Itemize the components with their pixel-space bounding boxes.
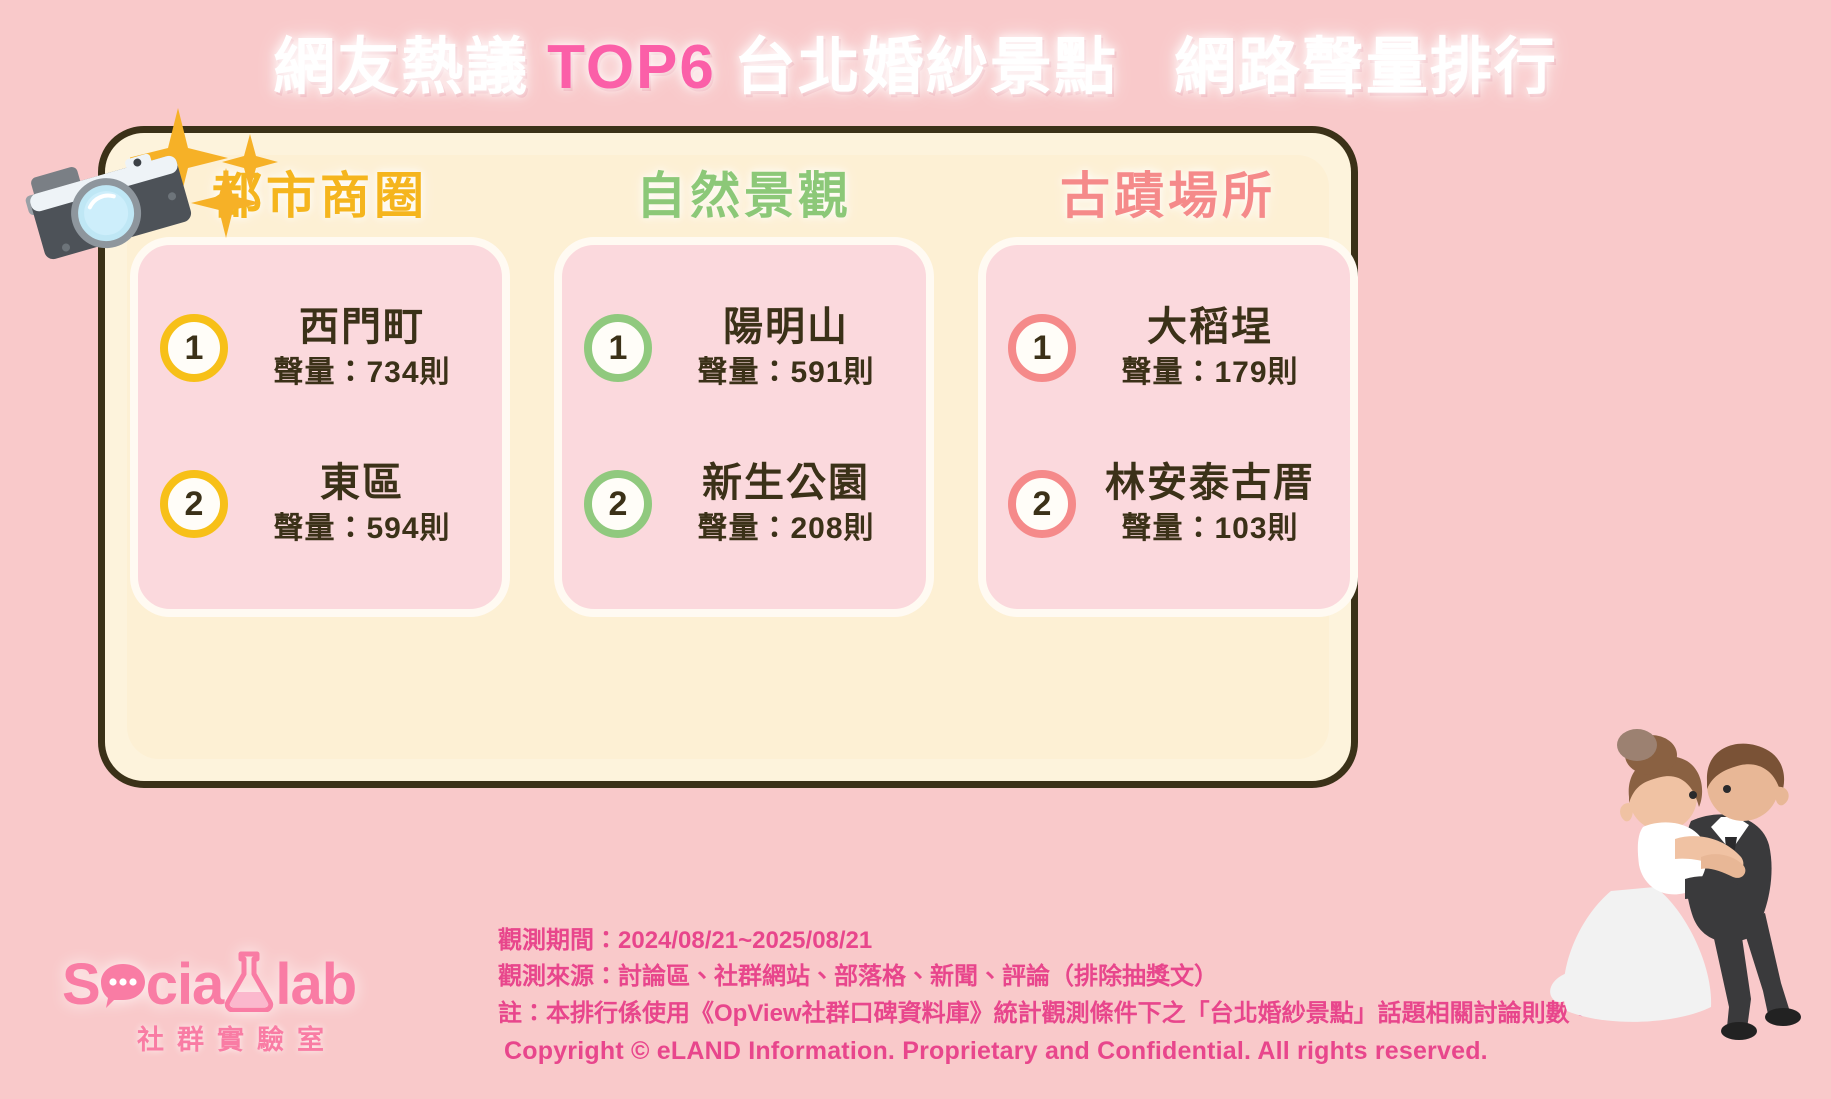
sociallab-logo[interactable]: S cia lab 社群實驗室	[62, 950, 402, 1057]
camera-icon	[18, 118, 198, 268]
spot-volume: 聲量：594則	[273, 509, 450, 548]
logo-letters-cia: cia	[146, 956, 224, 1014]
logo-wordmark: S cia lab	[62, 950, 402, 1014]
wedding-couple-illustration	[1515, 711, 1825, 1041]
title-highlight-top6: TOP6	[547, 37, 716, 99]
logo-letter-s: S	[62, 956, 100, 1014]
entry-text: 新生公園 聲量：208則	[668, 461, 904, 548]
title-part-2: 台北婚紗景點	[734, 37, 1118, 99]
spot-volume: 聲量：103則	[1121, 509, 1298, 548]
rank-badge: 2	[1008, 470, 1076, 538]
ranking-card-urban[interactable]: 1 西門町 聲量：734則 2 東區 聲量：594則	[130, 237, 510, 617]
footnote-note: 註：本排行係使用《OpView社群口碑資料庫》統計觀測條件下之「台北婚紗景點」話…	[498, 996, 1678, 1032]
spot-volume: 聲量：591則	[697, 353, 874, 392]
rank-badge: 2	[160, 470, 228, 538]
ranking-card-nature[interactable]: 1 陽明山 聲量：591則 2 新生公園 聲量：208則	[554, 237, 934, 617]
category-title-historic: 古蹟場所	[1060, 170, 1276, 223]
entry-text: 大稻埕 聲量：179則	[1092, 305, 1328, 392]
list-item[interactable]: 1 陽明山 聲量：591則	[580, 305, 908, 392]
spot-volume: 聲量：179則	[1121, 353, 1298, 392]
logo-letters-lab: lab	[275, 956, 356, 1014]
spot-name: 西門町	[299, 305, 425, 350]
rank-badge: 1	[1008, 314, 1076, 382]
list-item[interactable]: 1 西門町 聲量：734則	[156, 305, 484, 392]
list-item[interactable]: 2 東區 聲量：594則	[156, 461, 484, 548]
list-item[interactable]: 1 大稻埕 聲量：179則	[1004, 305, 1332, 392]
category-column-nature: 自然景觀 1 陽明山 聲量：591則 2 新生公園 聲量：208則	[554, 170, 934, 770]
ranking-card-historic[interactable]: 1 大稻埕 聲量：179則 2 林安泰古厝 聲量：103則	[978, 237, 1358, 617]
category-column-historic: 古蹟場所 1 大稻埕 聲量：179則 2 林安泰古厝 聲量：103則	[978, 170, 1358, 770]
spot-name: 東區	[320, 461, 404, 506]
list-item[interactable]: 2 林安泰古厝 聲量：103則	[1004, 461, 1332, 548]
ranking-columns: 都市商圈 1 西門町 聲量：734則 2 東區 聲量：594則	[130, 170, 1330, 770]
spot-name: 大稻埕	[1147, 305, 1273, 350]
footnote-period: 觀測期間：2024/08/21~2025/08/21	[498, 923, 1678, 959]
rank-badge: 1	[160, 314, 228, 382]
footnotes: 觀測期間：2024/08/21~2025/08/21 觀測來源：討論區、社群網站…	[498, 923, 1678, 1071]
footnote-copyright: Copyright © eLAND Information. Proprieta…	[498, 1032, 1678, 1071]
entry-text: 林安泰古厝 聲量：103則	[1092, 461, 1328, 548]
entry-text: 東區 聲量：594則	[244, 461, 480, 548]
list-item[interactable]: 2 新生公園 聲量：208則	[580, 461, 908, 548]
page-title: 網友熱議 TOP6 台北婚紗景點 網路聲量排行	[0, 18, 1831, 118]
flask-icon	[223, 950, 275, 1012]
footnote-source: 觀測來源：討論區、社群網站、部落格、新聞、評論（排除抽獎文）	[498, 959, 1678, 995]
logo-subtitle: 社群實驗室	[62, 1018, 402, 1057]
category-title-nature: 自然景觀	[636, 170, 852, 223]
rank-badge: 1	[584, 314, 652, 382]
rank-badge: 2	[584, 470, 652, 538]
spot-name: 陽明山	[723, 305, 849, 350]
entry-text: 陽明山 聲量：591則	[668, 305, 904, 392]
spot-volume: 聲量：734則	[273, 353, 450, 392]
speech-bubble-icon	[98, 958, 148, 1010]
spot-name: 林安泰古厝	[1105, 461, 1315, 506]
spot-name: 新生公園	[702, 461, 870, 506]
spot-volume: 聲量：208則	[697, 509, 874, 548]
entry-text: 西門町 聲量：734則	[244, 305, 480, 392]
infographic-root: 網友熱議 TOP6 台北婚紗景點 網路聲量排行	[0, 0, 1831, 1099]
title-part-3: 網路聲量排行	[1174, 37, 1558, 99]
title-part-1: 網友熱議	[273, 37, 529, 99]
